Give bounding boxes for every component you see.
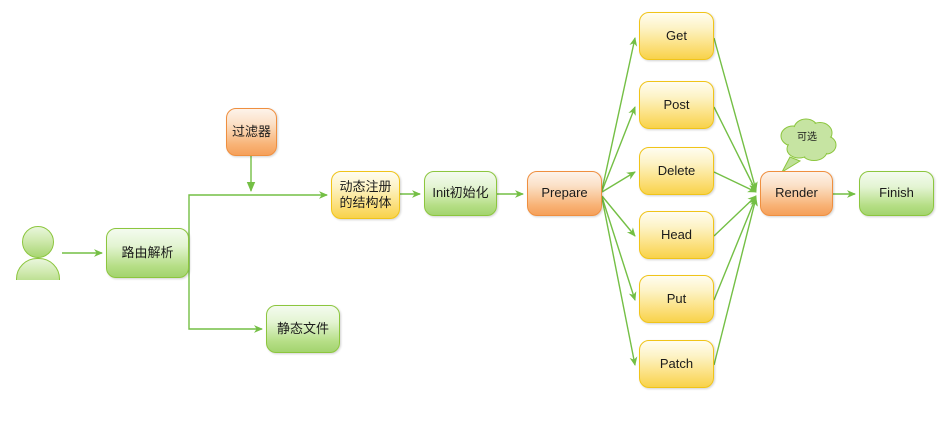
node-dynamic-struct[interactable]: 动态注册 的结构体 [331,171,400,219]
node-render-label: Render [775,185,818,201]
actor-body-icon [16,258,60,290]
edge-patch-render [714,198,756,365]
edge-put-render [714,197,756,300]
edge-head-render [714,196,756,236]
node-post-label: Post [663,97,689,113]
node-init-label: Init初始化 [432,185,488,201]
edge-post-render [714,107,756,191]
optional-callout: 可选 [776,120,838,164]
node-finish[interactable]: Finish [859,171,934,216]
node-put-label: Put [667,291,687,307]
node-filter[interactable]: 过滤器 [226,108,277,156]
node-delete-label: Delete [658,163,696,179]
edge-layer [0,0,951,448]
edge-prepare-post [602,107,635,191]
edge-prepare-delete [602,172,635,192]
edge-delete-render [714,172,756,192]
node-static-file-label: 静态文件 [277,321,329,337]
node-prepare-label: Prepare [541,185,587,201]
edge-prepare-patch [602,198,635,365]
edge-route-dynamic [189,195,327,253]
node-route-parse[interactable]: 路由解析 [106,228,189,278]
node-patch-label: Patch [660,356,693,372]
diagram-canvas: 可选 路由解析 过滤器 静态文件 动态注册 的结构体 Init初始化 Prepa… [0,0,951,448]
user-actor-icon [16,226,58,280]
node-head[interactable]: Head [639,211,714,259]
node-render[interactable]: Render [760,171,833,216]
node-get-label: Get [666,28,687,44]
node-put[interactable]: Put [639,275,714,323]
node-init[interactable]: Init初始化 [424,171,497,216]
node-static-file[interactable]: 静态文件 [266,305,340,353]
node-head-label: Head [661,227,692,243]
node-post[interactable]: Post [639,81,714,129]
node-dynamic-struct-label: 动态注册 的结构体 [339,179,391,212]
edge-prepare-put [602,197,635,300]
actor-head-icon [22,226,54,258]
node-patch[interactable]: Patch [639,340,714,388]
node-get[interactable]: Get [639,12,714,60]
node-route-parse-label: 路由解析 [121,245,173,261]
optional-callout-label: 可选 [776,120,838,150]
node-filter-label: 过滤器 [232,124,271,140]
edge-route-static [189,253,262,329]
node-prepare[interactable]: Prepare [527,171,602,216]
edge-get-render [714,38,756,190]
node-finish-label: Finish [879,185,914,201]
node-delete[interactable]: Delete [639,147,714,195]
edge-prepare-get [602,38,635,190]
edge-prepare-head [602,196,635,236]
